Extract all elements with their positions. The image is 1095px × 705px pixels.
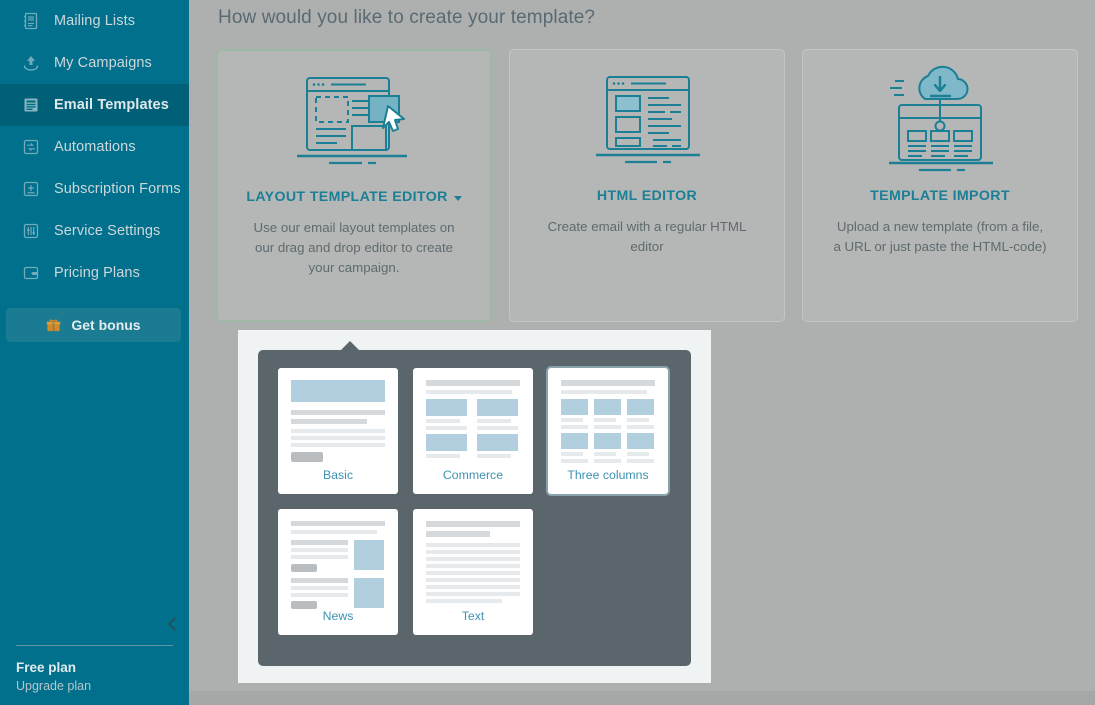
html-editor-icon xyxy=(587,56,707,184)
template-method-cards: LAYOUT TEMPLATE EDITOR Use our email lay… xyxy=(216,49,1078,322)
bonus-wrapper: Get bonus xyxy=(0,294,189,342)
card-description: Upload a new template (from a file, a UR… xyxy=(832,217,1048,257)
sidebar-item-service-settings[interactable]: Service Settings xyxy=(0,210,189,252)
card-title-text: LAYOUT TEMPLATE EDITOR xyxy=(246,189,447,205)
main-content: How would you like to create your templa… xyxy=(189,0,1095,705)
get-bonus-label: Get bonus xyxy=(71,317,140,333)
sidebar-item-my-campaigns[interactable]: My Campaigns xyxy=(0,42,189,84)
sidebar-item-label: Service Settings xyxy=(54,223,160,239)
app-root: Mailing Lists My Campaigns Email Templat… xyxy=(0,0,1095,705)
thumb-preview-three-columns xyxy=(561,380,655,462)
gift-icon xyxy=(46,318,61,333)
plan-name: Free plan xyxy=(16,660,173,675)
thumb-preview-text xyxy=(426,521,520,603)
sidebar-item-label: Subscription Forms xyxy=(54,181,181,197)
thumb-preview-commerce xyxy=(426,380,520,462)
sidebar-item-label: Automations xyxy=(54,139,136,155)
template-thumb-label: Text xyxy=(462,609,485,623)
template-thumb-news[interactable]: News xyxy=(278,509,398,635)
sidebar-item-mailing-lists[interactable]: Mailing Lists xyxy=(0,0,189,42)
sidebar-item-label: Email Templates xyxy=(54,97,169,113)
card-title-text: TEMPLATE IMPORT xyxy=(870,188,1010,204)
sidebar-item-label: Pricing Plans xyxy=(54,265,140,281)
sidebar-item-pricing-plans[interactable]: Pricing Plans xyxy=(0,252,189,294)
address-book-icon xyxy=(22,12,40,30)
card-description: Create email with a regular HTML editor xyxy=(539,217,755,257)
card-title: HTML EDITOR xyxy=(597,188,697,204)
form-plus-icon xyxy=(22,180,40,198)
template-thumb-text[interactable]: Text xyxy=(413,509,533,635)
thumb-preview-news xyxy=(291,521,385,603)
upgrade-plan-link[interactable]: Upgrade plan xyxy=(16,679,173,693)
dropdown-panel: Basic xyxy=(258,350,691,666)
template-thumbnail-grid: Basic xyxy=(278,368,678,635)
sliders-icon xyxy=(22,222,40,240)
template-thumb-label: Commerce xyxy=(443,468,503,482)
chevron-left-icon[interactable] xyxy=(163,615,181,633)
sidebar-item-label: My Campaigns xyxy=(54,55,152,71)
get-bonus-button[interactable]: Get bonus xyxy=(6,308,181,342)
card-title-text: HTML EDITOR xyxy=(597,188,697,204)
card-template-import[interactable]: TEMPLATE IMPORT Upload a new template (f… xyxy=(802,49,1078,322)
template-icon xyxy=(22,96,40,114)
sidebar: Mailing Lists My Campaigns Email Templat… xyxy=(0,0,189,705)
horizontal-scrollbar[interactable] xyxy=(189,691,1095,705)
chevron-down-icon[interactable] xyxy=(454,196,462,201)
sidebar-item-email-templates[interactable]: Email Templates xyxy=(0,84,189,126)
template-thumb-label: News xyxy=(323,609,354,623)
sidebar-item-subscription-forms[interactable]: Subscription Forms xyxy=(0,168,189,210)
card-html-editor[interactable]: HTML EDITOR Create email with a regular … xyxy=(509,49,785,322)
footer-divider xyxy=(16,645,173,646)
sidebar-footer: Free plan Upgrade plan xyxy=(0,645,189,705)
thumb-preview-basic xyxy=(291,380,385,462)
card-title: TEMPLATE IMPORT xyxy=(870,188,1010,204)
layout-editor-icon xyxy=(294,57,414,185)
card-title: LAYOUT TEMPLATE EDITOR xyxy=(246,189,461,205)
sidebar-item-automations[interactable]: Automations xyxy=(0,126,189,168)
wallet-icon xyxy=(22,264,40,282)
card-description: Use our email layout templates on our dr… xyxy=(246,218,462,278)
page-title: How would you like to create your templa… xyxy=(218,7,595,29)
sidebar-item-label: Mailing Lists xyxy=(54,13,135,29)
campaign-upload-icon xyxy=(22,54,40,72)
automation-icon xyxy=(22,138,40,156)
cloud-upload-template-icon xyxy=(875,56,1005,184)
template-thumb-label: Basic xyxy=(323,468,353,482)
template-thumb-label: Three columns xyxy=(567,468,648,482)
template-thumb-three-columns[interactable]: Three columns xyxy=(548,368,668,494)
template-thumb-basic[interactable]: Basic xyxy=(278,368,398,494)
card-layout-template-editor[interactable]: LAYOUT TEMPLATE EDITOR Use our email lay… xyxy=(216,49,492,322)
template-thumb-commerce[interactable]: Commerce xyxy=(413,368,533,494)
layout-templates-dropdown: Basic xyxy=(238,330,711,683)
